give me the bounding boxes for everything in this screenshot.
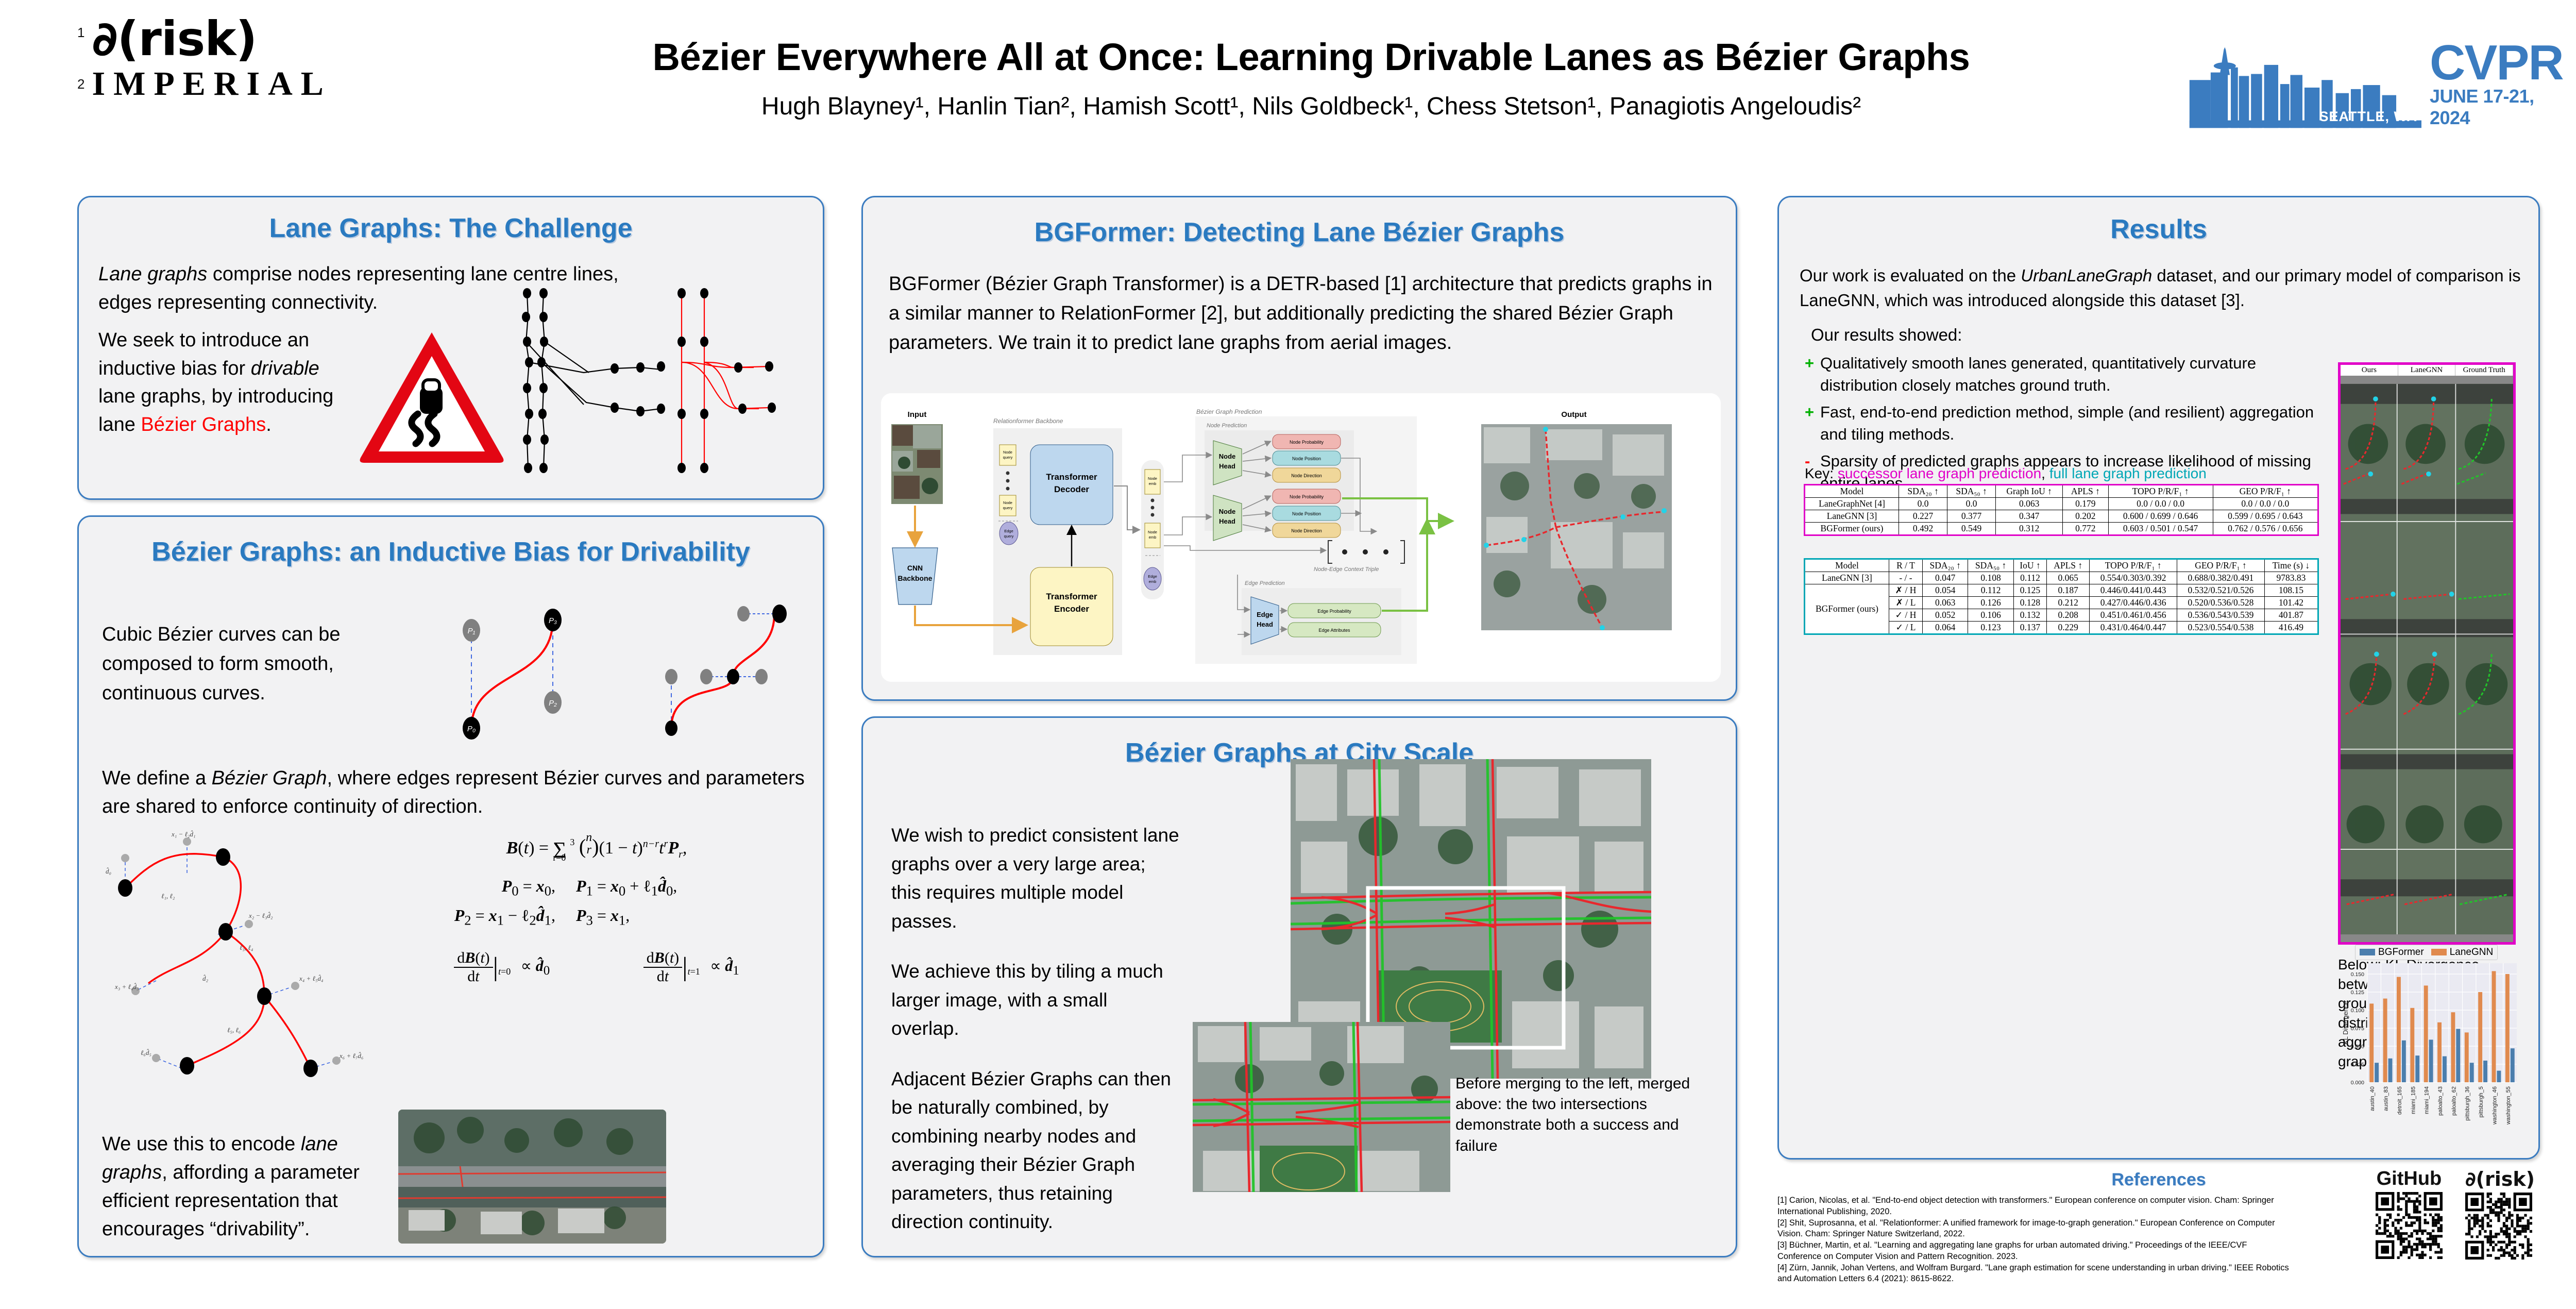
svg-text:Node: Node bbox=[1148, 476, 1157, 481]
bezier-graph-schematic: d̂₀x₁ − ℓ₂d̂₁ x₂ − ℓ₃d̂₂x₃ + ℓ₄d̂₃ x₄ + … bbox=[94, 826, 398, 1110]
svg-text:Node: Node bbox=[1148, 530, 1157, 534]
table-row: LaneGNN [3] 0.227 0.377 0.347 0.202 0.60… bbox=[1805, 510, 2318, 523]
cityscale-caption: Before merging to the left, merged above… bbox=[1455, 1073, 1703, 1156]
td: 0.112 bbox=[2013, 572, 2046, 584]
qualitative-strip-svg bbox=[2341, 376, 2513, 943]
td: 416.49 bbox=[2264, 622, 2318, 634]
challenge-body-text: We seek to introduce an inductive bias f… bbox=[98, 326, 356, 439]
td: 0.347 bbox=[1996, 510, 2063, 523]
cityscale-premerge-aerial bbox=[1193, 1022, 1450, 1192]
reference-item: [1] Carion, Nicolas, et al. "End-to-end … bbox=[1777, 1195, 2293, 1218]
chart-xtick: pittsburgh_5 bbox=[2478, 1086, 2484, 1118]
th: TOPO P/R/F₁ ↑ bbox=[2090, 559, 2177, 572]
th: TOPO P/R/F₁ ↑ bbox=[2108, 485, 2213, 498]
results-showed-label: Our results showed: bbox=[1811, 325, 1962, 345]
reference-item: [4] Zürn, Jannik, Johan Vertens, and Wol… bbox=[1777, 1263, 2293, 1285]
td: 0.112 bbox=[1968, 584, 2013, 597]
cvpr-date: JUNE 17-21, 2024 bbox=[2430, 86, 2576, 129]
svg-text:emb: emb bbox=[1149, 481, 1157, 486]
svg-text:x₄ + ℓ₅d̂₄: x₄ + ℓ₅d̂₄ bbox=[299, 975, 324, 982]
chart-xtick: paloalto_43 bbox=[2437, 1086, 2444, 1116]
svg-text:Edge Probability: Edge Probability bbox=[1317, 609, 1351, 614]
chart-xtick: miami_185 bbox=[2410, 1086, 2416, 1114]
svg-text:Encoder: Encoder bbox=[1054, 604, 1089, 614]
td: 0.549 bbox=[1947, 523, 1996, 535]
page-title: Bézier Everywhere All at Once: Learning … bbox=[479, 36, 2143, 79]
svg-text:Node Direction: Node Direction bbox=[1291, 528, 1322, 533]
legend-swatch-lanegnn bbox=[2431, 949, 2447, 955]
td: 0.603 / 0.501 / 0.547 bbox=[2108, 523, 2213, 535]
svg-text:CNN: CNN bbox=[907, 564, 923, 572]
results-table-successor: Model SDA₂₀ ↑ SDA₅₀ ↑ Graph IoU ↑ APLS ↑… bbox=[1804, 484, 2319, 536]
chart-bar-bgformer bbox=[2511, 1048, 2515, 1082]
chart-bar-lanegnn bbox=[2465, 1032, 2469, 1082]
chart-ytick: 0.000 bbox=[2351, 1080, 2364, 1086]
chart-bar-lanegnn bbox=[2424, 985, 2428, 1082]
chart-xtick: washington_46 bbox=[2492, 1086, 2498, 1125]
td: 108.15 bbox=[2264, 584, 2318, 597]
td: 0.187 bbox=[2047, 584, 2090, 597]
bgformer-body-text: BGFormer (Bézier Graph Transformer) is a… bbox=[889, 270, 1713, 358]
chart-bar-bgformer bbox=[2470, 1063, 2474, 1082]
td: 0.0 bbox=[1947, 498, 1996, 510]
table-row: BGFormer (ours) ✗ / H 0.054 0.112 0.125 … bbox=[1805, 584, 2318, 597]
ctrl-label-p2: P₂ bbox=[549, 699, 557, 708]
kl-divergence-chart: BGFormer LaneGNN 0.0000.0250.0500.0750.1… bbox=[2341, 945, 2521, 1140]
svg-text:Output: Output bbox=[1561, 410, 1586, 419]
td: 0.137 bbox=[2013, 622, 2046, 634]
skid-warning-sign-icon bbox=[357, 326, 506, 465]
qr-code-group: GitHub ∂(risk) bbox=[2376, 1168, 2535, 1260]
results-lead-emphasis: UrbanLaneGraph bbox=[2021, 266, 2152, 285]
svg-text:d̂₀: d̂₀ bbox=[106, 867, 111, 875]
td: 0.132 bbox=[2013, 609, 2046, 622]
architecture-svg: Relationformer Backbone Bézier Graph Pre… bbox=[881, 393, 1721, 682]
td: 0.688/0.382/0.491 bbox=[2177, 572, 2265, 584]
th: SDA₂₀ ↑ bbox=[1922, 559, 1968, 572]
td: 0.212 bbox=[2047, 597, 2090, 609]
svg-text:x₃ + ℓ₄d̂₃: x₃ + ℓ₄d̂₃ bbox=[114, 983, 139, 991]
qr-label-github: GitHub bbox=[2376, 1168, 2443, 1190]
inductive-p3-a: We use this to encode bbox=[102, 1133, 301, 1155]
panel-inductive-bias: Bézier Graphs: an Inductive Bias for Dri… bbox=[77, 515, 824, 1257]
svg-text:Node: Node bbox=[1003, 450, 1012, 455]
td: ✓ / L bbox=[1889, 622, 1922, 634]
td: 0.762 / 0.576 / 0.656 bbox=[2213, 523, 2318, 535]
chart-bar-bgformer bbox=[2429, 1039, 2433, 1082]
affiliation-drisk: 1 ∂(risk) bbox=[77, 15, 489, 63]
chart-ytick: 0.125 bbox=[2351, 989, 2364, 996]
svg-text:x₆ + ℓ₇d̂₆: x₆ + ℓ₇d̂₆ bbox=[339, 1052, 364, 1060]
td: 0.446/0.441/0.443 bbox=[2090, 584, 2177, 597]
th: Model bbox=[1805, 559, 1889, 572]
th: SDA₂₀ ↑ bbox=[1899, 485, 1947, 498]
bullet-text: Fast, end-to-end prediction method, simp… bbox=[1820, 401, 2320, 446]
cvpr-name: CVPR bbox=[2430, 40, 2563, 86]
td: LaneGraphNet [4] bbox=[1805, 498, 1899, 510]
td: 0.523/0.554/0.538 bbox=[2177, 622, 2265, 634]
poster-header: 1 ∂(risk) 2 IMPERIAL Bézier Everywhere A… bbox=[0, 0, 2576, 175]
chart-bar-lanegnn bbox=[2397, 977, 2401, 1082]
svg-text:Node Direction: Node Direction bbox=[1291, 473, 1322, 478]
svg-text:ℓ₆d̂₅: ℓ₆d̂₅ bbox=[141, 1049, 151, 1056]
chart-bar-bgformer bbox=[2415, 1055, 2419, 1082]
inductive-aerial-svg bbox=[398, 1110, 666, 1244]
td: 0.532/0.521/0.526 bbox=[2177, 584, 2265, 597]
chart-xtick: pittsburgh_36 bbox=[2465, 1086, 2471, 1121]
td: 0.600 / 0.699 / 0.646 bbox=[2108, 510, 2213, 523]
panel-lane-graphs-challenge: Lane Graphs: The Challenge Lane graphs c… bbox=[77, 196, 824, 500]
td: 0.536/0.543/0.539 bbox=[2177, 609, 2265, 622]
results-lead-a: Our work is evaluated on the bbox=[1800, 266, 2021, 285]
th: GEO P/R/F₁ ↑ bbox=[2177, 559, 2265, 572]
inductive-paragraph-3: We use this to encode lane graphs, affor… bbox=[102, 1130, 391, 1244]
svg-text:Head: Head bbox=[1219, 517, 1235, 525]
svg-text:Input: Input bbox=[908, 410, 927, 419]
chart-xtick: miami_194 bbox=[2424, 1086, 2430, 1114]
svg-text:x₁ − ℓ₂d̂₁: x₁ − ℓ₂d̂₁ bbox=[171, 830, 196, 838]
svg-text:Node Position: Node Position bbox=[1292, 511, 1321, 516]
td: 101.42 bbox=[2264, 597, 2318, 609]
key-full: full lane graph prediction bbox=[2049, 465, 2207, 481]
td: LaneGNN [3] bbox=[1805, 510, 1899, 523]
th: IoU ↑ bbox=[2013, 559, 2046, 572]
chart-ytick: 0.050 bbox=[2351, 1044, 2364, 1050]
svg-text:d̂₂: d̂₂ bbox=[202, 975, 209, 982]
svg-text:query: query bbox=[1003, 455, 1013, 460]
cvpr-logo: SEATTLE, WA CVPR JUNE 17-21, 2024 bbox=[2184, 26, 2576, 129]
svg-text:Node-Edge Context Triple: Node-Edge Context Triple bbox=[1314, 566, 1379, 573]
th: SDA₅₀ ↑ bbox=[1968, 559, 2013, 572]
list-item: + Fast, end-to-end prediction method, si… bbox=[1805, 401, 2320, 446]
svg-text:ℓ₅, ℓ₆: ℓ₅, ℓ₆ bbox=[227, 1026, 241, 1034]
panel-title-inductive: Bézier Graphs: an Inductive Bias for Dri… bbox=[79, 536, 823, 567]
svg-text:Node Probability: Node Probability bbox=[1290, 494, 1324, 499]
th: GEO P/R/F₁ ↑ bbox=[2213, 485, 2318, 498]
th: Time (s) ↓ bbox=[2264, 559, 2318, 572]
inductive-paragraph-2: We define a Bézier Graph, where edges re… bbox=[102, 764, 808, 821]
svg-text:Transformer: Transformer bbox=[1046, 472, 1097, 482]
panel-title-bgformer: BGFormer: Detecting Lane Bézier Graphs bbox=[863, 217, 1736, 248]
td: 0.0 / 0.0 / 0.0 bbox=[2213, 498, 2318, 510]
td: 0.202 bbox=[2063, 510, 2108, 523]
bezier-equations: B(t) = Σr=03 (nr)(1 − t)n−rtrPr, P0 = x0… bbox=[393, 831, 800, 985]
qualitative-comparison-strip: Ours LaneGNN Ground Truth bbox=[2338, 362, 2516, 945]
td: 0.108 bbox=[1968, 572, 2013, 584]
td: 0.520/0.536/0.528 bbox=[2177, 597, 2265, 609]
th: Model bbox=[1805, 485, 1899, 498]
td: 0.063 bbox=[1996, 498, 2063, 510]
svg-text:Backbone: Backbone bbox=[898, 574, 933, 582]
equation-p0-p1: P0 = x0,P1 = x0 + ℓ1d̂0, bbox=[393, 877, 800, 899]
panel-city-scale: Bézier Graphs at City Scale We wish to p… bbox=[861, 716, 1737, 1257]
td: 0.554/0.303/0.392 bbox=[2090, 572, 2177, 584]
panel-title-challenge: Lane Graphs: The Challenge bbox=[79, 213, 823, 244]
td: 0.106 bbox=[1968, 609, 2013, 622]
challenge-body-3: . bbox=[266, 414, 272, 435]
td: 0.064 bbox=[1922, 622, 1968, 634]
td: BGFormer (ours) bbox=[1805, 523, 1899, 535]
challenge-lead-emphasis: Lane graphs bbox=[98, 263, 207, 285]
legend-swatch-bgformer bbox=[2360, 949, 2375, 955]
chart-bar-bgformer bbox=[2375, 1063, 2379, 1082]
svg-text:Node: Node bbox=[1003, 500, 1012, 505]
td: - / - bbox=[1889, 572, 1922, 584]
chart-ytick: 0.150 bbox=[2351, 971, 2364, 978]
cityscale-paragraph-3: Adjacent Bézier Graphs can then be natur… bbox=[891, 1065, 1180, 1236]
td: 0.229 bbox=[2047, 622, 2090, 634]
td: 0.125 bbox=[2013, 584, 2046, 597]
td: 0.128 bbox=[2013, 597, 2046, 609]
svg-text:Bézier Graph Prediction: Bézier Graph Prediction bbox=[1196, 408, 1262, 415]
table-row: LaneGraphNet [4] 0.0 0.0 0.063 0.179 0.0… bbox=[1805, 498, 2318, 510]
reference-item: [3] Büchner, Martin, et al. "Learning an… bbox=[1777, 1240, 2293, 1263]
svg-text:Edge Attributes: Edge Attributes bbox=[1318, 628, 1350, 633]
td: 401.87 bbox=[2264, 609, 2318, 622]
seattle-skyline-icon: SEATTLE, WA bbox=[2184, 44, 2421, 129]
svg-text:Edge: Edge bbox=[1148, 574, 1157, 579]
td: 0.065 bbox=[2047, 572, 2090, 584]
lane-graph-comparison-figure bbox=[512, 285, 805, 481]
svg-text:x₂ − ℓ₃d̂₂: x₂ − ℓ₃d̂₂ bbox=[248, 912, 273, 919]
td: 0.227 bbox=[1899, 510, 1947, 523]
table-header-row: Model R / T SDA₂₀ ↑ SDA₅₀ ↑ IoU ↑ APLS ↑… bbox=[1805, 559, 2318, 572]
svg-text:Head: Head bbox=[1219, 462, 1235, 470]
th: APLS ↑ bbox=[2063, 485, 2108, 498]
legend-label-lanegnn: LaneGNN bbox=[2450, 947, 2494, 958]
table-row: LaneGNN [3] - / - 0.047 0.108 0.112 0.06… bbox=[1805, 572, 2318, 584]
svg-text:emb: emb bbox=[1149, 579, 1157, 584]
affiliation-imperial: 2 IMPERIAL bbox=[77, 67, 489, 101]
svg-text:Transformer: Transformer bbox=[1046, 592, 1097, 601]
svg-text:query: query bbox=[1003, 506, 1013, 510]
inductive-aerial-image bbox=[398, 1110, 666, 1244]
svg-text:Edge Prediction: Edge Prediction bbox=[1245, 580, 1285, 586]
legend-entry-bgformer: BGFormer bbox=[2360, 947, 2424, 958]
list-item: + Qualitatively smooth lanes generated, … bbox=[1805, 352, 2320, 397]
legend-entry-lanegnn: LaneGNN bbox=[2431, 947, 2494, 958]
poster-root: 1 ∂(risk) 2 IMPERIAL Bézier Everywhere A… bbox=[0, 0, 2576, 1309]
challenge-body-highlight: Bézier Graphs bbox=[141, 414, 266, 435]
cityscale-paragraph-1: We wish to predict consistent lane graph… bbox=[891, 821, 1180, 935]
chart-bar-bgformer bbox=[2388, 1059, 2393, 1082]
inductive-p2-emphasis: Bézier Graph bbox=[212, 767, 327, 789]
chart-bar-bgformer bbox=[2456, 1029, 2460, 1082]
th: SDA₅₀ ↑ bbox=[1947, 485, 1996, 498]
strip-header-gt: Ground Truth bbox=[2455, 365, 2513, 376]
references-block: References [1] Carion, Nicolas, et al. "… bbox=[1777, 1170, 2540, 1299]
chart-ytick: 0.100 bbox=[2351, 1008, 2364, 1014]
results-key-legend: Key: successor lane graph prediction, fu… bbox=[1805, 465, 2207, 482]
chart-bar-lanegnn bbox=[2492, 971, 2496, 1082]
svg-text:Edge: Edge bbox=[1004, 529, 1013, 533]
qualitative-strip-headers: Ours LaneGNN Ground Truth bbox=[2341, 365, 2513, 376]
td: 0.047 bbox=[1922, 572, 1968, 584]
panel-bgformer: BGFormer: Detecting Lane Bézier Graphs B… bbox=[861, 196, 1737, 701]
td: 0.431/0.464/0.447 bbox=[2090, 622, 2177, 634]
strip-header-lanegnn: LaneGNN bbox=[2398, 365, 2456, 376]
qr-code-icon[interactable] bbox=[2376, 1192, 2443, 1259]
chart-xtick: austin_40 bbox=[2369, 1086, 2376, 1111]
svg-text:Node: Node bbox=[1219, 508, 1236, 515]
table-header-row: Model SDA₂₀ ↑ SDA₅₀ ↑ Graph IoU ↑ APLS ↑… bbox=[1805, 485, 2318, 498]
td: 0.599 / 0.695 / 0.643 bbox=[2213, 510, 2318, 523]
svg-text:Node: Node bbox=[1219, 452, 1236, 460]
td-model-group: BGFormer (ours) bbox=[1805, 584, 1889, 634]
title-block: Bézier Everywhere All at Once: Learning … bbox=[479, 36, 2143, 121]
td: 0.312 bbox=[1996, 523, 2063, 535]
drisk-logo: ∂(risk) bbox=[92, 15, 257, 63]
chart-bar-lanegnn bbox=[2410, 1008, 2414, 1082]
inductive-p2-a: We define a bbox=[102, 767, 212, 789]
td: 0.451/0.461/0.456 bbox=[2090, 609, 2177, 622]
reference-item: [2] Shit, Suprosanna, et al. "Relationfo… bbox=[1777, 1218, 2293, 1240]
ctrl-label-p3: P₃ bbox=[549, 616, 557, 625]
ctrl-label-p0: P₀ bbox=[467, 725, 476, 733]
table-row: BGFormer (ours) 0.492 0.549 0.312 0.772 … bbox=[1805, 523, 2318, 535]
chart-bar-bgformer bbox=[2443, 1056, 2447, 1082]
th: APLS ↑ bbox=[2047, 559, 2090, 572]
chart-ytick: 0.025 bbox=[2351, 1062, 2364, 1068]
svg-text:query: query bbox=[1004, 534, 1014, 539]
imperial-logo: IMPERIAL bbox=[92, 67, 331, 101]
cityscale-premerge-svg bbox=[1193, 1022, 1450, 1192]
bezier-ctrl-svg: P₀ P₁ P₂ P₃ bbox=[383, 599, 810, 754]
td: ✗ / H bbox=[1889, 584, 1922, 597]
cvpr-text: CVPR JUNE 17-21, 2024 bbox=[2430, 40, 2576, 129]
panel-title-results: Results bbox=[1779, 214, 2538, 245]
svg-text:Node Prediction: Node Prediction bbox=[1207, 423, 1247, 429]
td: 9783.83 bbox=[2264, 572, 2318, 584]
chart-xtick: washington_55 bbox=[2505, 1086, 2512, 1125]
cityscale-paragraph-2: We achieve this by tiling a much larger … bbox=[891, 957, 1180, 1043]
td: ✗ / L bbox=[1889, 597, 1922, 609]
th: Graph IoU ↑ bbox=[1996, 485, 2063, 498]
td: 0.063 bbox=[1922, 597, 1968, 609]
chart-ytick: 0.075 bbox=[2351, 1026, 2364, 1032]
svg-text:ℓ₁, ℓ₂: ℓ₁, ℓ₂ bbox=[161, 892, 175, 900]
td: 0.208 bbox=[2047, 609, 2090, 622]
svg-text:ℓ₃, ℓ₄: ℓ₃, ℓ₄ bbox=[240, 944, 253, 951]
key-separator: , bbox=[2041, 465, 2049, 481]
svg-text:Edge: Edge bbox=[1257, 611, 1273, 618]
chart-ylabel: KL Divergence bbox=[2342, 1001, 2349, 1045]
ctrl-label-p1: P₁ bbox=[468, 627, 476, 635]
chart-bar-lanegnn bbox=[2478, 992, 2482, 1082]
equation-p2-p3: P2 = x1 − ℓ2d̂1,P3 = x1, bbox=[393, 906, 800, 928]
legend-label-bgformer: BGFormer bbox=[2378, 947, 2424, 958]
strip-header-ours: Ours bbox=[2341, 365, 2398, 376]
td: 0.0 / 0.0 / 0.0 bbox=[2108, 498, 2213, 510]
td: 0.052 bbox=[1922, 609, 1968, 622]
td: 0.0 bbox=[1899, 498, 1947, 510]
chart-bar-bgformer bbox=[2483, 1061, 2487, 1082]
svg-text:Relationformer Backbone: Relationformer Backbone bbox=[993, 417, 1063, 425]
td: 0.492 bbox=[1899, 523, 1947, 535]
td: 0.054 bbox=[1922, 584, 1968, 597]
key-successor: successor lane graph prediction bbox=[1838, 465, 2041, 481]
td: ✓ / H bbox=[1889, 609, 1922, 622]
bullet-text: Qualitatively smooth lanes generated, qu… bbox=[1820, 352, 2320, 397]
cityscale-text-column: We wish to predict consistent lane graph… bbox=[891, 821, 1180, 1258]
key-prefix: Key: bbox=[1805, 465, 1838, 481]
qr-code-icon[interactable] bbox=[2465, 1193, 2532, 1260]
challenge-body-emphasis: drivable bbox=[251, 358, 319, 379]
seattle-label: SEATTLE, WA bbox=[2319, 109, 2417, 125]
equation-bezier: B(t) = Σr=03 (nr)(1 − t)n−rtrPr, bbox=[393, 831, 800, 863]
bgformer-architecture-diagram: Relationformer Backbone Bézier Graph Pre… bbox=[881, 393, 1721, 682]
qr-label-drisk: ∂(risk) bbox=[2465, 1168, 2535, 1190]
results-table-full: Model R / T SDA₂₀ ↑ SDA₅₀ ↑ IoU ↑ APLS ↑… bbox=[1804, 558, 2319, 635]
td: 0.772 bbox=[2063, 523, 2108, 535]
chart-bar-bgformer bbox=[2497, 1071, 2501, 1082]
affiliation-1-superscript: 1 bbox=[77, 25, 84, 41]
inductive-paragraph-1: Cubic Bézier curves can be composed to f… bbox=[102, 620, 370, 708]
lane-graph-svg bbox=[512, 285, 805, 481]
bezier-graph-schematic-svg: d̂₀x₁ − ℓ₂d̂₁ x₂ − ℓ₃d̂₂x₃ + ℓ₄d̂₃ x₄ + … bbox=[94, 826, 398, 1110]
bullet-symbol-plus: + bbox=[1805, 401, 1814, 446]
td: 0.377 bbox=[1947, 510, 1996, 523]
chart-bar-lanegnn bbox=[2383, 999, 2387, 1082]
chart-bar-lanegnn bbox=[2451, 1012, 2455, 1082]
affiliation-2-superscript: 2 bbox=[77, 76, 84, 92]
bezier-control-point-figure: P₀ P₁ P₂ P₃ bbox=[383, 599, 810, 754]
td: 0.126 bbox=[1968, 597, 2013, 609]
chart-bar-lanegnn bbox=[2505, 974, 2510, 1082]
references-list: [1] Carion, Nicolas, et al. "End-to-end … bbox=[1777, 1195, 2293, 1285]
chart-xtick: detroit_165 bbox=[2397, 1086, 2403, 1115]
skid-sign-svg bbox=[357, 326, 506, 465]
svg-text:Head: Head bbox=[1257, 620, 1273, 628]
td: 0.123 bbox=[1968, 622, 2013, 634]
th: R / T bbox=[1889, 559, 1922, 572]
affiliation-logos: 1 ∂(risk) 2 IMPERIAL bbox=[77, 15, 489, 101]
qr-drisk[interactable]: ∂(risk) bbox=[2465, 1168, 2535, 1260]
chart-xtick: paloalto_62 bbox=[2451, 1086, 2457, 1116]
td: 0.179 bbox=[2063, 498, 2108, 510]
panel-results: Results Our work is evaluated on the Urb… bbox=[1777, 196, 2540, 1160]
chart-xtick: austin_83 bbox=[2383, 1086, 2389, 1111]
svg-text:emb: emb bbox=[1149, 535, 1157, 540]
chart-plot-svg: 0.0000.0250.0500.0750.1000.1250.150austi… bbox=[2341, 960, 2521, 1143]
results-lead-text: Our work is evaluated on the UrbanLaneGr… bbox=[1800, 263, 2521, 313]
td: LaneGNN [3] bbox=[1805, 572, 1889, 584]
author-list: Hugh Blayney¹, Hanlin Tian², Hamish Scot… bbox=[479, 92, 2143, 121]
chart-bar-bgformer bbox=[2402, 1041, 2406, 1082]
qr-github[interactable]: GitHub bbox=[2376, 1168, 2443, 1260]
bullet-symbol-plus: + bbox=[1805, 352, 1814, 397]
chart-legend: BGFormer LaneGNN bbox=[2355, 945, 2498, 960]
td: 0.427/0.446/0.436 bbox=[2090, 597, 2177, 609]
chart-bar-lanegnn bbox=[2437, 1022, 2442, 1082]
chart-bar-lanegnn bbox=[2369, 1003, 2374, 1082]
svg-text:Decoder: Decoder bbox=[1054, 484, 1089, 494]
svg-text:Node Position: Node Position bbox=[1292, 456, 1321, 461]
svg-text:Node Probability: Node Probability bbox=[1290, 440, 1324, 445]
equation-derivatives: dB(t)dt |t=0 ∝ d̂0 dB(t)dt |t=1 ∝ d̂1 bbox=[393, 949, 800, 985]
